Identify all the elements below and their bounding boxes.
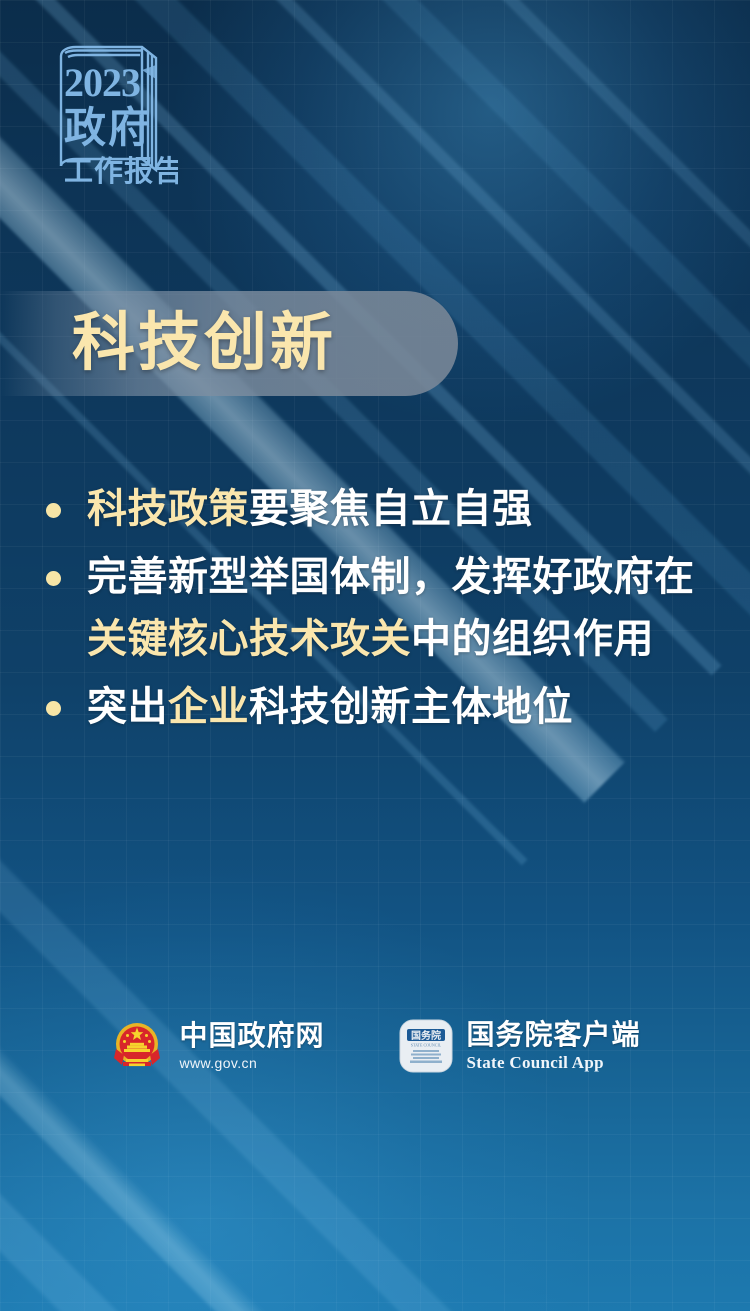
book-icon: 2023 政府 工作报告 <box>38 38 178 193</box>
bullet-plain-text: 中的组织作用 <box>411 617 654 661</box>
bullet-plain-text: 要聚焦自立自强 <box>249 487 533 531</box>
state-council-app-icon: 国务院 STATE COUNCIL <box>399 1019 453 1073</box>
poster-root: 2023 政府 工作报告 科技创新 科技政策要聚焦自立自强完善新型举国体制，发挥… <box>0 0 750 1311</box>
brand-state-council-text: 国务院客户端 State Council App <box>467 1019 641 1074</box>
brand-gov-cn-url: www.gov.cn <box>179 1055 324 1072</box>
bullet-text: 科技政策要聚焦自立自强 <box>87 478 710 540</box>
section-title-badge: 科技创新 <box>0 291 458 396</box>
logo-line3: 工作报告 <box>64 155 178 188</box>
bullet-dot-icon <box>46 571 61 586</box>
report-logo: 2023 政府 工作报告 <box>38 38 178 193</box>
bullet-highlight-text: 企业 <box>168 685 249 729</box>
svg-text:国务院: 国务院 <box>411 1029 441 1042</box>
logo-year: 2023 <box>64 60 140 105</box>
footer-brands: 中国政府网 www.gov.cn 国务院 STATE COUNCIL <box>0 1018 750 1074</box>
bullet-item: 突出企业科技创新主体地位 <box>46 676 710 738</box>
bullet-highlight-text: 科技政策 <box>87 487 249 531</box>
national-emblem-icon <box>109 1018 165 1074</box>
bullet-text: 突出企业科技创新主体地位 <box>87 676 710 738</box>
bullet-plain-text: 完善新型举国体制，发挥好政府在 <box>87 555 695 599</box>
bullet-list: 科技政策要聚焦自立自强完善新型举国体制，发挥好政府在关键核心技术攻关中的组织作用… <box>46 478 710 744</box>
brand-gov-cn-text: 中国政府网 www.gov.cn <box>179 1020 324 1071</box>
brand-gov-cn-name: 中国政府网 <box>179 1020 324 1051</box>
logo-line2: 政府 <box>64 104 152 151</box>
brand-gov-cn[interactable]: 中国政府网 www.gov.cn <box>109 1018 324 1074</box>
bullet-item: 完善新型举国体制，发挥好政府在关键核心技术攻关中的组织作用 <box>46 546 710 670</box>
bullet-plain-text: 突出 <box>87 685 168 729</box>
bullet-text: 完善新型举国体制，发挥好政府在关键核心技术攻关中的组织作用 <box>87 546 710 670</box>
brand-state-council-en: State Council App <box>467 1053 641 1073</box>
bullet-highlight-text: 关键核心技术攻关 <box>87 617 411 661</box>
page-title: 科技创新 <box>72 312 336 375</box>
bullet-dot-icon <box>46 503 61 518</box>
bullet-item: 科技政策要聚焦自立自强 <box>46 478 710 540</box>
bullet-dot-icon <box>46 701 61 716</box>
brand-state-council-app[interactable]: 国务院 STATE COUNCIL 国务院客户端 State Council A… <box>399 1019 641 1074</box>
bullet-plain-text: 科技创新主体地位 <box>249 685 573 729</box>
svg-text:STATE COUNCIL: STATE COUNCIL <box>410 1043 441 1048</box>
brand-state-council-name: 国务院客户端 <box>467 1019 641 1050</box>
